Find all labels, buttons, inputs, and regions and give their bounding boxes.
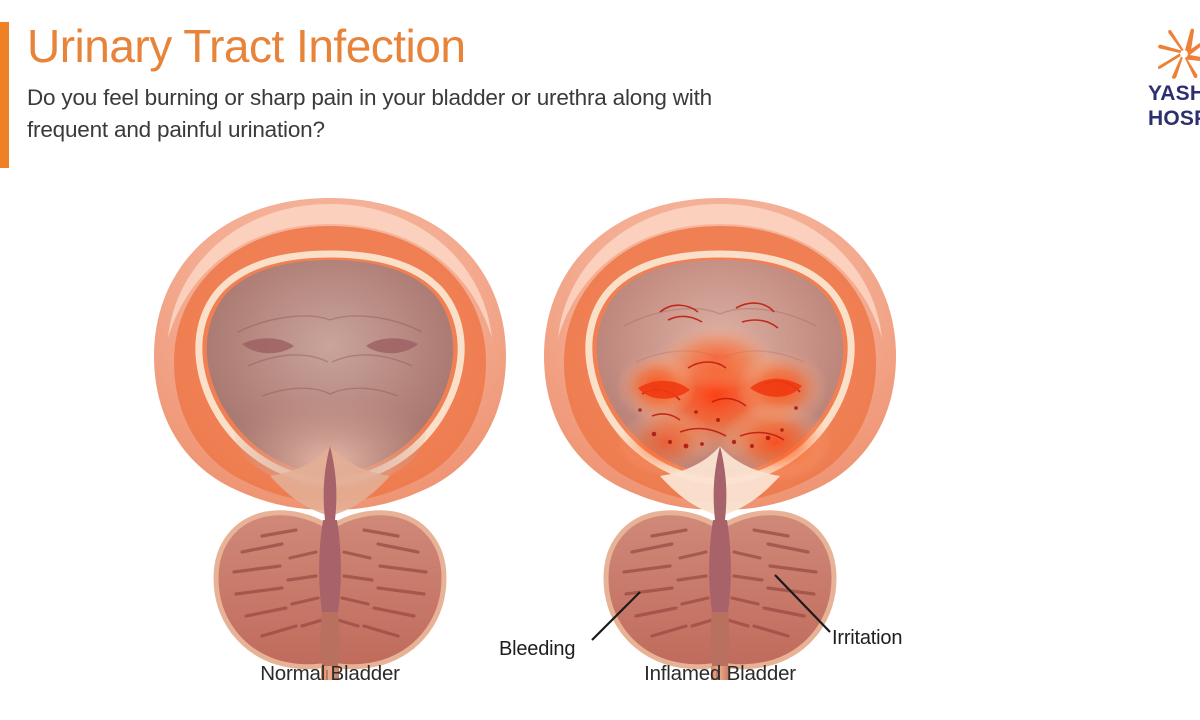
logo-wordmark: YASHO HOSPI (1148, 82, 1200, 132)
normal-bladder-caption: Normal Bladder (130, 662, 530, 686)
irritation-callout-label: Irritation (832, 627, 902, 650)
brand-logo[interactable]: YASHO HOSPI (1148, 26, 1200, 146)
flower-star-icon (1156, 26, 1200, 82)
logo-text-line2: HOSPI (1148, 107, 1200, 132)
inflamed-bladder-caption: Inflamed Bladder (520, 662, 920, 686)
header-banner: Urinary Tract Infection Do you feel burn… (0, 0, 1200, 180)
logo-text-line1: YASHO (1148, 82, 1200, 105)
illustration-area: Bleeding Irritation Normal Bladder Infla… (0, 180, 1200, 720)
inflamed-bladder-illustration (520, 180, 920, 680)
bleeding-callout-label: Bleeding (499, 638, 575, 661)
page-subtitle: Do you feel burning or sharp pain in you… (27, 82, 727, 146)
page-title: Urinary Tract Infection (27, 20, 465, 73)
orange-accent-bar (0, 22, 9, 168)
normal-bladder-illustration (130, 180, 530, 680)
